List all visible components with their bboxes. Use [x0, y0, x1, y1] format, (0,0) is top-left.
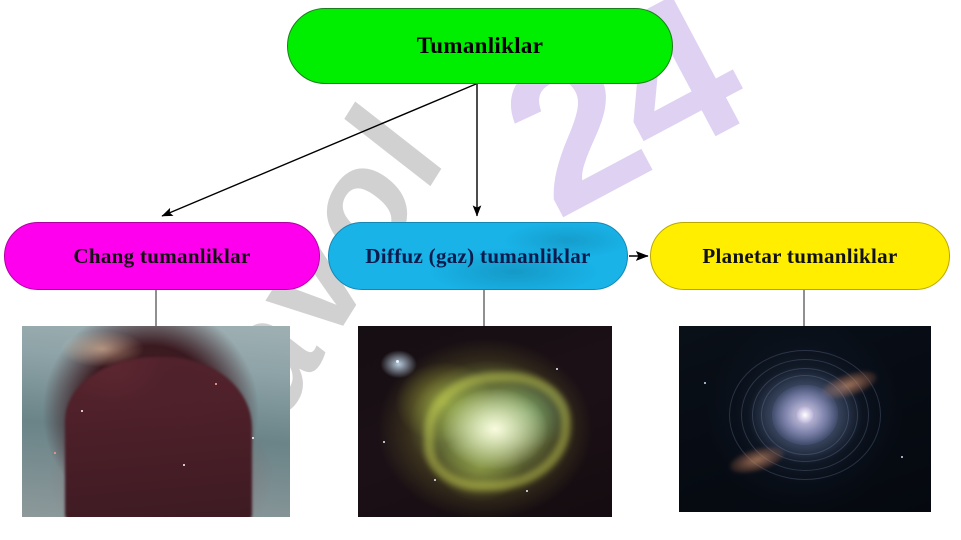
planetary-nebula-artwork	[679, 326, 931, 512]
dust-nebula-artwork	[22, 326, 290, 517]
diffuse-nebula-artwork	[358, 326, 612, 517]
nebula-filament-ring	[424, 372, 571, 491]
arrow-root-to-dust	[162, 84, 476, 216]
nebula-central-star	[795, 407, 815, 424]
node-tumanliklar-root[interactable]: Tumanliklar	[287, 8, 673, 84]
node-dust-label: Chang tumanliklar	[73, 244, 250, 269]
node-chang-tumanliklar[interactable]: Chang tumanliklar	[4, 222, 320, 290]
node-root-label: Tumanliklar	[417, 33, 543, 59]
planetary-nebula-photo[interactable]	[679, 326, 931, 512]
dark-dust-nebula-photo[interactable]	[22, 326, 290, 517]
diffuse-emission-nebula-photo[interactable]	[358, 326, 612, 517]
diagram-canvas: 24 Savol Tumanliklar Chang tumanliklar D…	[0, 0, 961, 540]
node-diffuse-label: Diffuz (gaz) tumanliklar	[365, 244, 590, 269]
horsehead-silhouette	[65, 357, 253, 517]
node-planetar-tumanliklar[interactable]: Planetar tumanliklar	[650, 222, 950, 290]
node-planetary-label: Planetar tumanliklar	[702, 244, 897, 269]
node-diffuz-gaz-tumanliklar[interactable]: Diffuz (gaz) tumanliklar	[328, 222, 628, 290]
